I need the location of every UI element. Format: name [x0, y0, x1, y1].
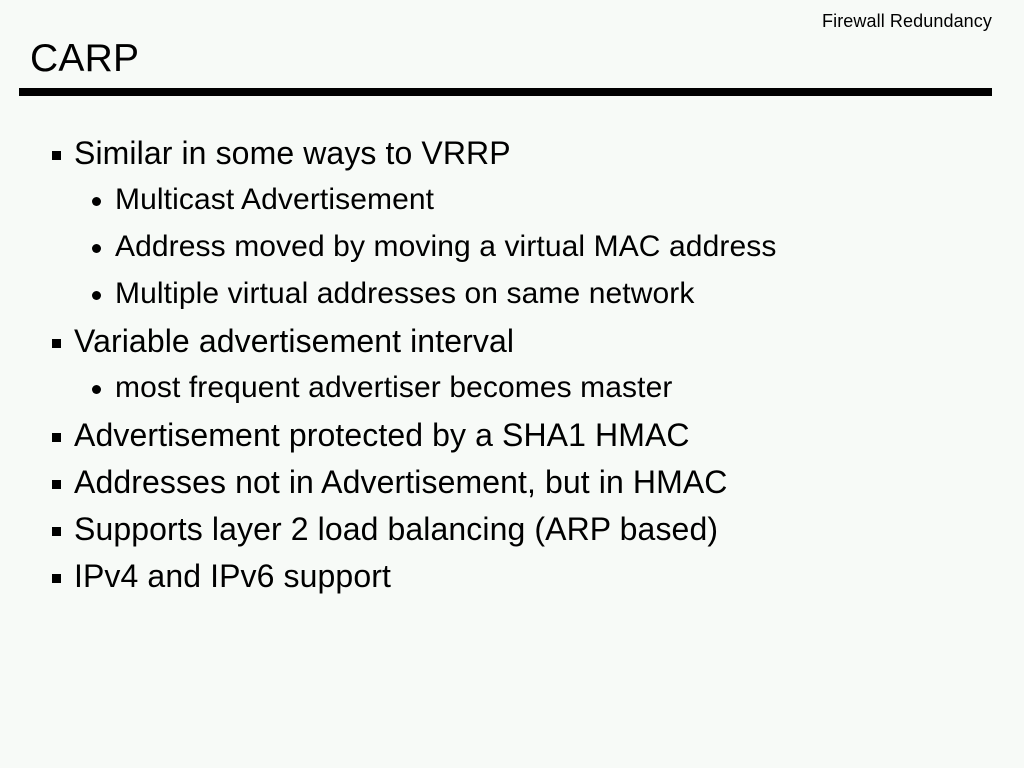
bullet-text: Similar in some ways to VRRP: [74, 131, 1024, 175]
bullet-text: Supports layer 2 load balancing (ARP bas…: [74, 507, 1024, 551]
round-bullet-icon: [92, 291, 101, 300]
round-bullet-icon: [92, 197, 101, 206]
round-bullet-icon: [92, 244, 101, 253]
bullet-item: most frequent advertiser becomes master: [0, 366, 1024, 413]
bullet-item: Variable advertisement interval: [0, 319, 1024, 366]
bullet-list: Similar in some ways to VRRPMulticast Ad…: [0, 131, 1024, 601]
bullet-text: Advertisement protected by a SHA1 HMAC: [74, 413, 1024, 457]
square-bullet-icon: [52, 433, 61, 442]
round-bullet-icon: [92, 385, 101, 394]
bullet-item: Multiple virtual addresses on same netwo…: [0, 272, 1024, 319]
bullet-item: Advertisement protected by a SHA1 HMAC: [0, 413, 1024, 460]
title-divider: [19, 88, 992, 96]
slide-header: Firewall Redundancy CARP: [0, 0, 1024, 96]
bullet-item: Addresses not in Advertisement, but in H…: [0, 460, 1024, 507]
bullet-text: Multicast Advertisement: [115, 178, 1024, 222]
square-bullet-icon: [52, 151, 61, 160]
square-bullet-icon: [52, 339, 61, 348]
bullet-text: Multiple virtual addresses on same netwo…: [115, 272, 1024, 316]
bullet-item: Address moved by moving a virtual MAC ad…: [0, 225, 1024, 272]
bullet-item: Supports layer 2 load balancing (ARP bas…: [0, 507, 1024, 554]
bullet-text: Variable advertisement interval: [74, 319, 1024, 363]
bullet-text: most frequent advertiser becomes master: [115, 366, 1024, 410]
slide-body: Similar in some ways to VRRPMulticast Ad…: [0, 131, 1024, 601]
bullet-text: Address moved by moving a virtual MAC ad…: [115, 225, 1024, 269]
bullet-item: IPv4 and IPv6 support: [0, 554, 1024, 601]
slide-kicker: Firewall Redundancy: [822, 11, 992, 32]
bullet-item: Similar in some ways to VRRP: [0, 131, 1024, 178]
bullet-text: IPv4 and IPv6 support: [74, 554, 1024, 598]
square-bullet-icon: [52, 527, 61, 536]
page-title: CARP: [30, 36, 139, 82]
slide: Firewall Redundancy CARP Similar in some…: [0, 0, 1024, 768]
bullet-item: Multicast Advertisement: [0, 178, 1024, 225]
bullet-text: Addresses not in Advertisement, but in H…: [74, 460, 1024, 504]
square-bullet-icon: [52, 480, 61, 489]
square-bullet-icon: [52, 574, 61, 583]
